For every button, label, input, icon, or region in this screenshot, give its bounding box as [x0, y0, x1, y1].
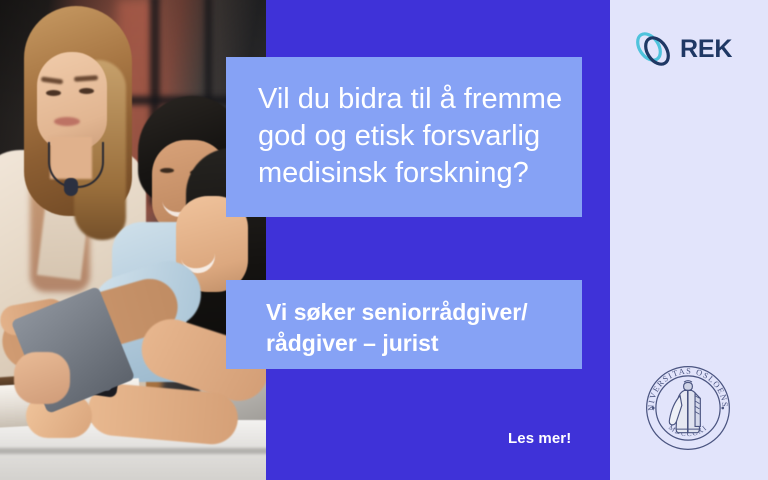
woman-eye-left: [46, 90, 61, 96]
apollo-figure: [669, 381, 700, 433]
question-line-3: medisinsk forskning?: [258, 155, 552, 192]
read-more-link[interactable]: Les mer!: [508, 430, 571, 447]
woman-pendant: [64, 178, 78, 196]
desk-edge: [0, 448, 266, 454]
rek-rings-icon: [632, 27, 676, 71]
woman-lips: [54, 117, 80, 126]
rek-logo: REK: [632, 26, 744, 72]
woman-face: [37, 52, 107, 150]
question-textbox: Vil du bidra til å fremme god og etisk f…: [226, 57, 582, 217]
man-eye-left: [160, 168, 174, 173]
uio-seal-icon: UNIVERSITAS OSLOENSIS MDCCCXI: [644, 364, 732, 452]
question-line-2: god og etisk forsvarlig: [258, 118, 552, 155]
woman-hand: [14, 352, 70, 404]
vacancy-line-1: Vi søker seniorrådgiver/: [266, 297, 562, 328]
rek-wordmark: REK: [680, 37, 732, 62]
vacancy-textbox: Vi søker seniorrådgiver/ rådgiver – juri…: [226, 280, 582, 369]
vacancy-line-2: rådgiver – jurist: [266, 328, 562, 359]
woman-eye-right: [79, 88, 94, 94]
recruitment-banner: REK UNIVERSITAS OSLOENSIS MDCCCXI: [0, 0, 768, 480]
question-line-1: Vil du bidra til å fremme: [258, 81, 552, 118]
